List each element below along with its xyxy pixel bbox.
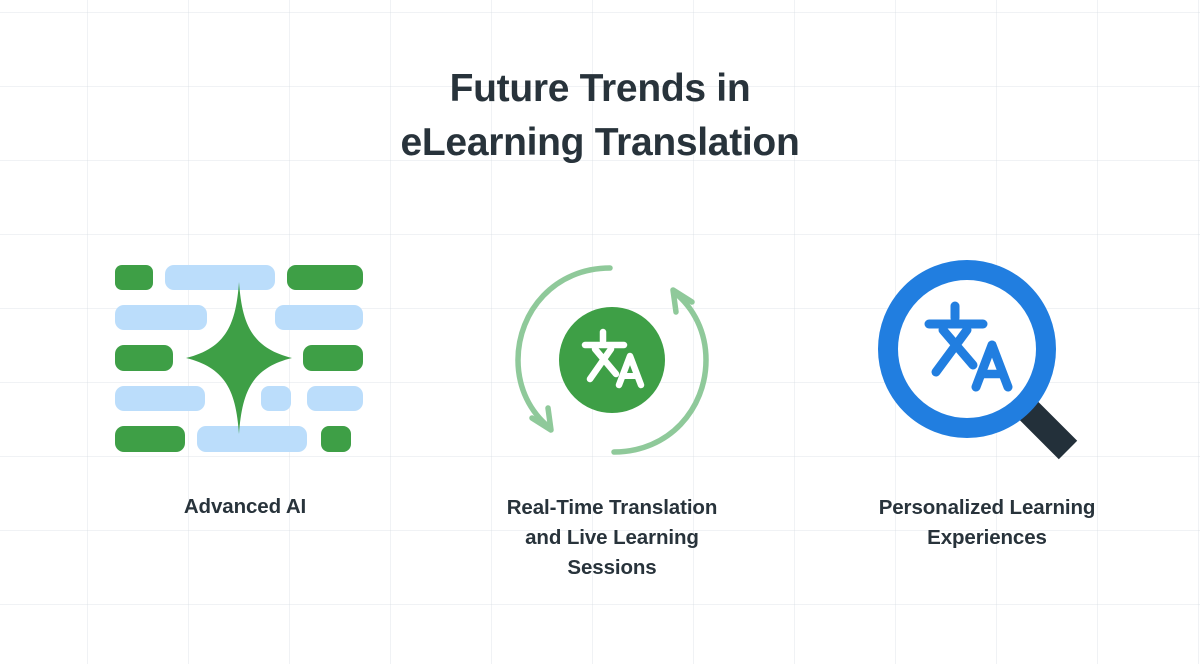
caption-real-time-translation: Real-Time Translation and Live Learning … xyxy=(507,493,718,583)
feature-column-personalized-learning: Personalized Learning Experiences xyxy=(843,250,1131,553)
bar-r3-green-2 xyxy=(303,345,363,371)
bar-r5-green-2 xyxy=(321,426,351,452)
sparkle-icon xyxy=(186,282,292,434)
bar-r1-green-2 xyxy=(287,265,363,290)
caption-line-2: Experiences xyxy=(879,523,1096,553)
magnifier-handle xyxy=(1024,406,1068,450)
page-title-line-2: eLearning Translation xyxy=(0,116,1200,170)
bar-r5-green-1 xyxy=(115,426,185,452)
ai-text-bars-sparkle-svg xyxy=(115,265,375,455)
caption-line-1: Personalized Learning xyxy=(879,493,1096,523)
caption-advanced-ai: Advanced AI xyxy=(184,492,306,522)
bar-r4-blue-1 xyxy=(115,386,205,411)
caption-line-2: and Live Learning xyxy=(507,523,718,553)
magnifier-translate-icon xyxy=(843,250,1131,470)
caption-line-1: Real-Time Translation xyxy=(507,493,718,523)
bar-r3-green-1 xyxy=(115,345,173,371)
page-title-line-1: Future Trends in xyxy=(0,62,1200,116)
translate-circle-refresh-icon xyxy=(462,250,762,470)
page-title: Future Trends in eLearning Translation xyxy=(0,62,1200,170)
magnifier-translate-svg xyxy=(872,254,1102,466)
bar-r2-blue-2 xyxy=(275,305,363,330)
caption-personalized-learning: Personalized Learning Experiences xyxy=(879,493,1096,553)
bar-r4-blue-2 xyxy=(261,386,291,411)
ai-text-bars-sparkle-icon xyxy=(85,250,405,470)
caption-line-3: Sessions xyxy=(507,553,718,583)
bar-r5-blue-1 xyxy=(197,426,307,452)
bar-r1-blue-1 xyxy=(165,265,275,290)
caption-line-1: Advanced AI xyxy=(184,492,306,522)
infographic-canvas: Future Trends in eLearning Translation xyxy=(0,0,1200,664)
bar-r2-blue-1 xyxy=(115,305,207,330)
translate-circle-background xyxy=(559,307,665,413)
feature-column-real-time-translation: Real-Time Translation and Live Learning … xyxy=(462,250,762,583)
feature-column-advanced-ai: Advanced AI xyxy=(85,250,405,522)
bar-r4-blue-3 xyxy=(307,386,363,411)
translate-circle-refresh-svg xyxy=(507,255,717,465)
magnifier-lens-ring xyxy=(888,270,1046,428)
bar-r1-green-1 xyxy=(115,265,153,290)
